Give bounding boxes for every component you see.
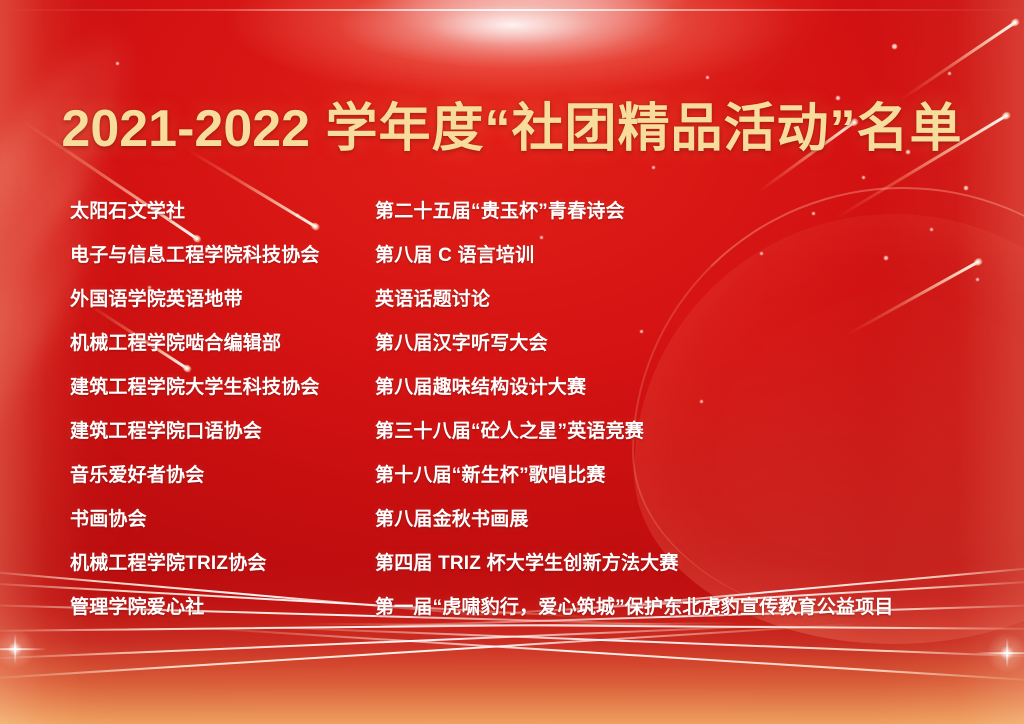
table-row: 建筑工程学院大学生科技协会第八届趣味结构设计大赛 bbox=[70, 372, 970, 416]
page-title: 2021-2022 学年度“社团精品活动”名单 bbox=[0, 86, 1024, 161]
activity-name-cell: 第四届 TRIZ 杯大学生创新方法大赛 bbox=[375, 548, 970, 575]
club-name-cell: 外国语学院英语地带 bbox=[70, 284, 375, 311]
activity-name-cell: 第一届“虎啸豹行，爱心筑城”保护东北虎豹宣传教育公益项目 bbox=[375, 592, 970, 619]
table-row: 机械工程学院TRIZ协会第四届 TRIZ 杯大学生创新方法大赛 bbox=[70, 548, 970, 592]
page-title-year: 2021-2022 bbox=[61, 100, 310, 158]
activity-name-cell: 英语话题讨论 bbox=[375, 284, 970, 311]
table-row: 外国语学院英语地带英语话题讨论 bbox=[70, 284, 970, 328]
table-row: 管理学院爱心社第一届“虎啸豹行，爱心筑城”保护东北虎豹宣传教育公益项目 bbox=[70, 592, 970, 636]
table-row: 建筑工程学院口语协会第三十八届“砼人之星”英语竞赛 bbox=[70, 416, 970, 460]
activity-name-cell: 第八届汉字听写大会 bbox=[375, 328, 970, 355]
club-name-cell: 音乐爱好者协会 bbox=[70, 460, 375, 487]
club-name-cell: 太阳石文学社 bbox=[70, 196, 375, 223]
poster-content: 2021-2022 学年度“社团精品活动”名单 太阳石文学社第二十五届“贵玉杯”… bbox=[0, 0, 1024, 724]
table-row: 电子与信息工程学院科技协会第八届 C 语言培训 bbox=[70, 240, 970, 284]
club-name-cell: 书画协会 bbox=[70, 504, 375, 531]
activity-name-cell: 第十八届“新生杯”歌唱比赛 bbox=[375, 460, 970, 487]
table-row: 音乐爱好者协会第十八届“新生杯”歌唱比赛 bbox=[70, 460, 970, 504]
club-name-cell: 建筑工程学院口语协会 bbox=[70, 416, 375, 443]
table-row: 机械工程学院啮合编辑部第八届汉字听写大会 bbox=[70, 328, 970, 372]
club-name-cell: 建筑工程学院大学生科技协会 bbox=[70, 372, 375, 399]
activity-list: 太阳石文学社第二十五届“贵玉杯”青春诗会电子与信息工程学院科技协会第八届 C 语… bbox=[70, 196, 970, 636]
activity-name-cell: 第二十五届“贵玉杯”青春诗会 bbox=[375, 196, 970, 223]
club-name-cell: 机械工程学院啮合编辑部 bbox=[70, 328, 375, 355]
activity-name-cell: 第八届金秋书画展 bbox=[375, 504, 970, 531]
club-name-cell: 管理学院爱心社 bbox=[70, 592, 375, 619]
activity-name-cell: 第八届 C 语言培训 bbox=[375, 240, 970, 267]
club-name-cell: 机械工程学院TRIZ协会 bbox=[70, 548, 375, 575]
table-row: 太阳石文学社第二十五届“贵玉杯”青春诗会 bbox=[70, 196, 970, 240]
table-row: 书画协会第八届金秋书画展 bbox=[70, 504, 970, 548]
activity-name-cell: 第三十八届“砼人之星”英语竞赛 bbox=[375, 416, 970, 443]
activity-name-cell: 第八届趣味结构设计大赛 bbox=[375, 372, 970, 399]
poster-canvas: 2021-2022 学年度“社团精品活动”名单 太阳石文学社第二十五届“贵玉杯”… bbox=[0, 0, 1024, 724]
page-title-rest: 学年度“社团精品活动”名单 bbox=[310, 100, 962, 158]
club-name-cell: 电子与信息工程学院科技协会 bbox=[70, 240, 375, 267]
